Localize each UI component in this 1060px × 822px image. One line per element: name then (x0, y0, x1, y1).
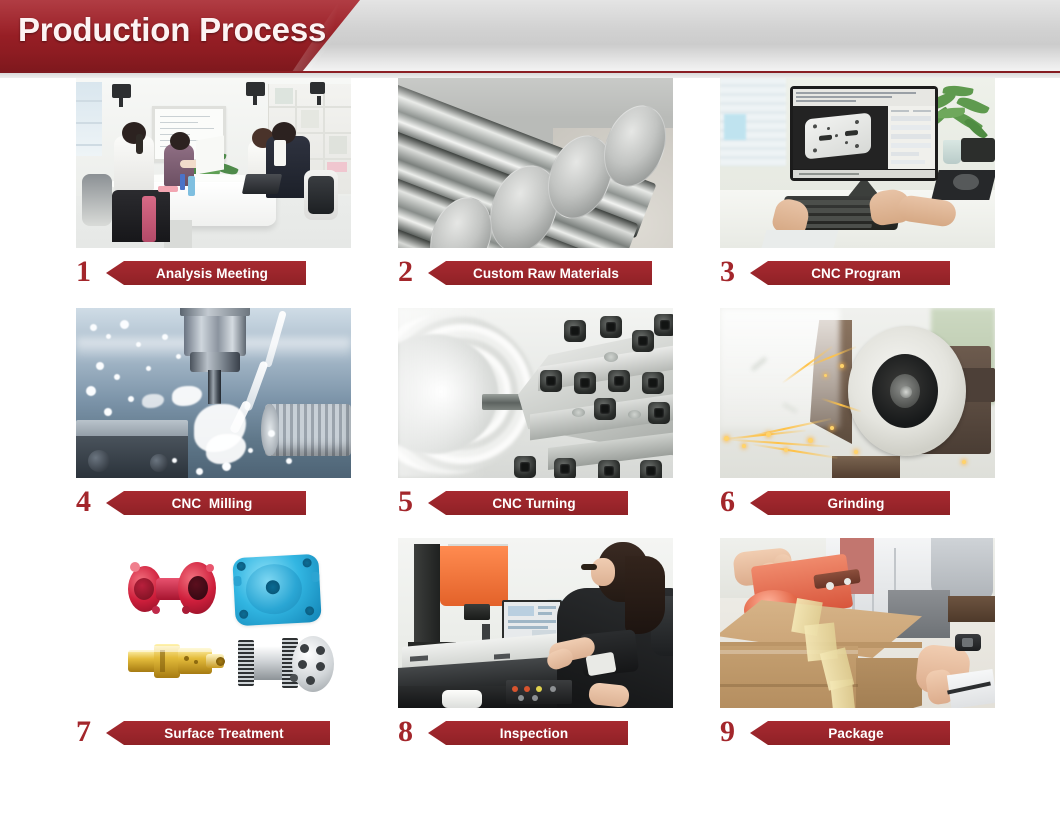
office-meeting-photo (76, 78, 351, 248)
step-label-2: Custom Raw Materials (461, 266, 619, 281)
steel-round-bars-photo (398, 78, 673, 248)
process-step-9: 9 Package (720, 538, 1042, 750)
step-label-arrow-8[interactable]: Inspection (428, 721, 628, 745)
step-number-1: 1 (76, 257, 102, 287)
step-caption-5: 5 CNC Turning (398, 486, 720, 520)
step-label-arrow-4[interactable]: CNC Milling (106, 491, 306, 515)
step-number-9: 9 (720, 717, 746, 747)
step-label-7: Surface Treatment (152, 726, 284, 741)
process-step-5: 5 CNC Turning (398, 308, 720, 520)
step-caption-8: 8 Inspection (398, 716, 720, 750)
process-step-7: 7 Surface Treatment (76, 538, 398, 750)
step-label-6: Grinding (815, 496, 884, 511)
grinding-wheel-sparks-photo (720, 308, 995, 478)
step-caption-7: 7 Surface Treatment (76, 716, 398, 750)
carton-taping-photo (720, 538, 995, 708)
step-label-arrow-2[interactable]: Custom Raw Materials (428, 261, 652, 285)
step-label-9: Package (816, 726, 884, 741)
step-number-3: 3 (720, 257, 746, 287)
process-step-2: 2 Custom Raw Materials (398, 78, 720, 290)
process-row-3: 7 Surface Treatment (0, 538, 1060, 768)
step-caption-2: 2 Custom Raw Materials (398, 256, 720, 290)
process-step-1: 1 Analysis Meeting (76, 78, 398, 290)
step-caption-3: 3 CNC Program (720, 256, 1042, 290)
step-caption-1: 1 Analysis Meeting (76, 256, 398, 290)
step-label-arrow-6[interactable]: Grinding (750, 491, 950, 515)
process-step-grid: 1 Analysis Meeting 2 (0, 78, 1060, 768)
process-row-1: 1 Analysis Meeting 2 (0, 78, 1060, 308)
cad-cam-programming-photo (720, 78, 995, 248)
step-label-5: CNC Turning (480, 496, 575, 511)
step-label-arrow-5[interactable]: CNC Turning (428, 491, 628, 515)
step-label-8: Inspection (488, 726, 569, 741)
step-number-8: 8 (398, 717, 424, 747)
anodized-plated-parts-photo (76, 538, 351, 708)
process-step-3: 3 CNC Program (720, 78, 1042, 290)
step-caption-4: 4 CNC Milling (76, 486, 398, 520)
step-caption-9: 9 Package (720, 716, 1042, 750)
page-header-banner: Production Process (0, 0, 1060, 78)
process-step-8: 8 Inspection (398, 538, 720, 750)
step-number-2: 2 (398, 257, 424, 287)
process-row-2: 4 CNC Milling (0, 308, 1060, 538)
page-title: Production Process (18, 11, 326, 49)
step-label-3: CNC Program (799, 266, 901, 281)
step-label-4: CNC Milling (160, 496, 253, 511)
process-step-4: 4 CNC Milling (76, 308, 398, 520)
cnc-lathe-turret-photo (398, 308, 673, 478)
step-label-arrow-1[interactable]: Analysis Meeting (106, 261, 306, 285)
step-number-6: 6 (720, 487, 746, 517)
cnc-milling-coolant-photo (76, 308, 351, 478)
step-label-arrow-3[interactable]: CNC Program (750, 261, 950, 285)
step-caption-6: 6 Grinding (720, 486, 1042, 520)
step-number-4: 4 (76, 487, 102, 517)
step-label-arrow-7[interactable]: Surface Treatment (106, 721, 330, 745)
vision-measuring-machine-photo (398, 538, 673, 708)
step-number-7: 7 (76, 717, 102, 747)
process-step-6: 6 Grinding (720, 308, 1042, 520)
step-label-1: Analysis Meeting (144, 266, 268, 281)
step-label-arrow-9[interactable]: Package (750, 721, 950, 745)
step-number-5: 5 (398, 487, 424, 517)
